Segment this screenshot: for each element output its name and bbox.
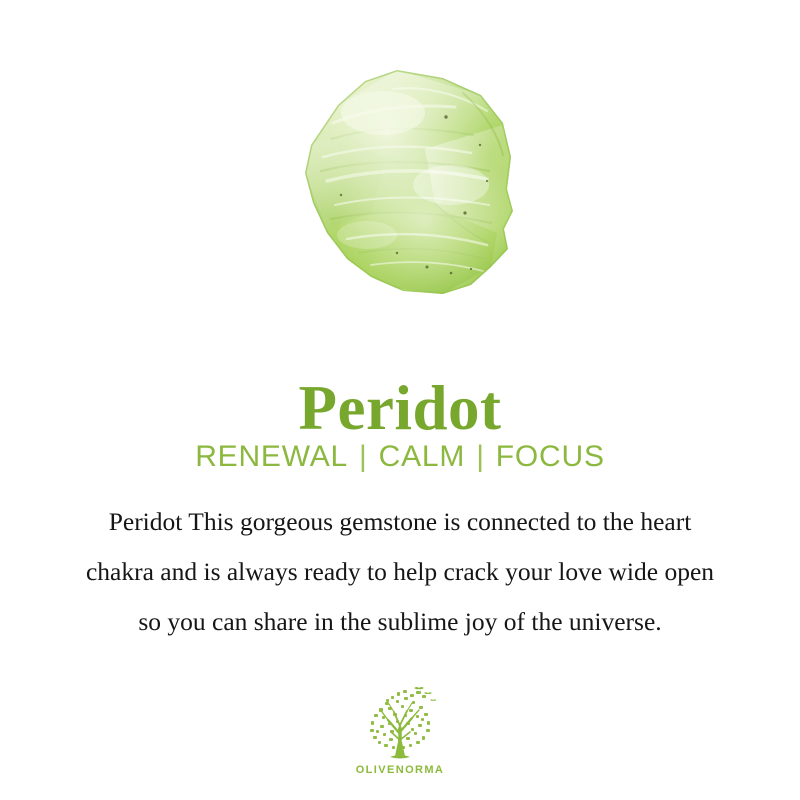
brand-logo: OLIVENORMA: [0, 684, 800, 776]
description-line: Peridot This gorgeous gemstone is connec…: [22, 497, 778, 547]
keyword-focus: FOCUS: [496, 440, 605, 473]
page-title: Peridot: [0, 372, 800, 444]
keyword-renewal: RENEWAL: [195, 440, 348, 473]
keyword-calm: CALM: [379, 440, 466, 473]
description-line: chakra and is always ready to help crack…: [22, 547, 778, 597]
brand-wordmark: OLIVENORMA: [356, 764, 445, 776]
description-text: Peridot This gorgeous gemstone is connec…: [22, 497, 778, 647]
keyword-separator: |: [348, 440, 379, 473]
keyword-list: RENEWAL|CALM|FOCUS: [0, 438, 800, 476]
keyword-separator: |: [465, 440, 496, 473]
peridot-crystal-illustration: [275, 53, 525, 301]
description-line: so you can share in the sublime joy of t…: [22, 597, 778, 647]
tree-trunk: [395, 742, 405, 756]
gemstone-image: [0, 42, 800, 312]
tree-roots: [390, 755, 410, 759]
crystal-body: [275, 53, 525, 301]
product-info-card: Peridot RENEWAL|CALM|FOCUS Peridot This …: [0, 0, 800, 800]
tree-of-life-icon: [354, 684, 446, 762]
